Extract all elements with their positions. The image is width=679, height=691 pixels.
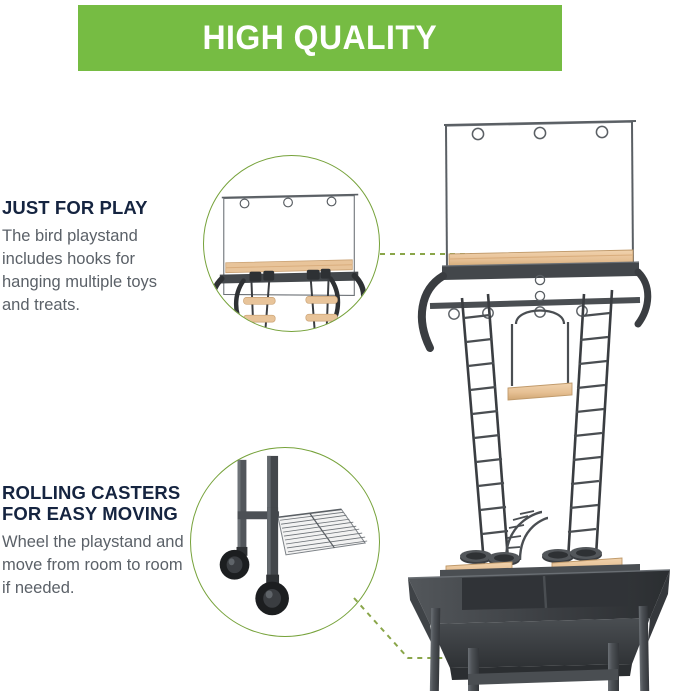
seed-tray — [408, 570, 670, 680]
callout-top-illustration — [204, 156, 379, 331]
feature-block-just-for-play: JUST FOR PLAY The bird playstand include… — [2, 197, 188, 317]
caster-wheel — [220, 547, 250, 580]
caster-wheel — [255, 575, 289, 616]
hanging-hooks — [472, 126, 607, 139]
header-banner: HIGH QUALITY — [78, 5, 562, 71]
feature-body: Wheel the playstand and move from room t… — [2, 531, 188, 600]
wire-shelf — [278, 509, 367, 555]
wooden-perch — [226, 260, 353, 273]
center-ladder — [506, 511, 548, 560]
feature-title: JUST FOR PLAY — [2, 197, 188, 218]
callout-bottom-illustration — [191, 448, 379, 636]
swing — [508, 275, 572, 400]
left-arm — [422, 276, 443, 348]
right-ladder — [568, 290, 612, 560]
feature-body: The bird playstand includes hooks for ha… — [2, 225, 188, 317]
feature-title: ROLLING CASTERS FOR EASY MOVING — [2, 482, 188, 524]
infographic-stage: HIGH QUALITY JUST FOR PLAY The bird play… — [0, 0, 679, 691]
product-illustration-bird-playstand — [400, 108, 679, 691]
feature-block-rolling-casters: ROLLING CASTERS FOR EASY MOVING Wheel th… — [2, 482, 188, 600]
ladder-rungs — [244, 296, 338, 322]
banner-title: HIGH QUALITY — [203, 19, 438, 58]
top-frame — [446, 122, 633, 269]
hanging-hooks — [240, 197, 336, 208]
left-ladder — [462, 294, 508, 564]
callout-circle-top-frame — [203, 155, 380, 332]
